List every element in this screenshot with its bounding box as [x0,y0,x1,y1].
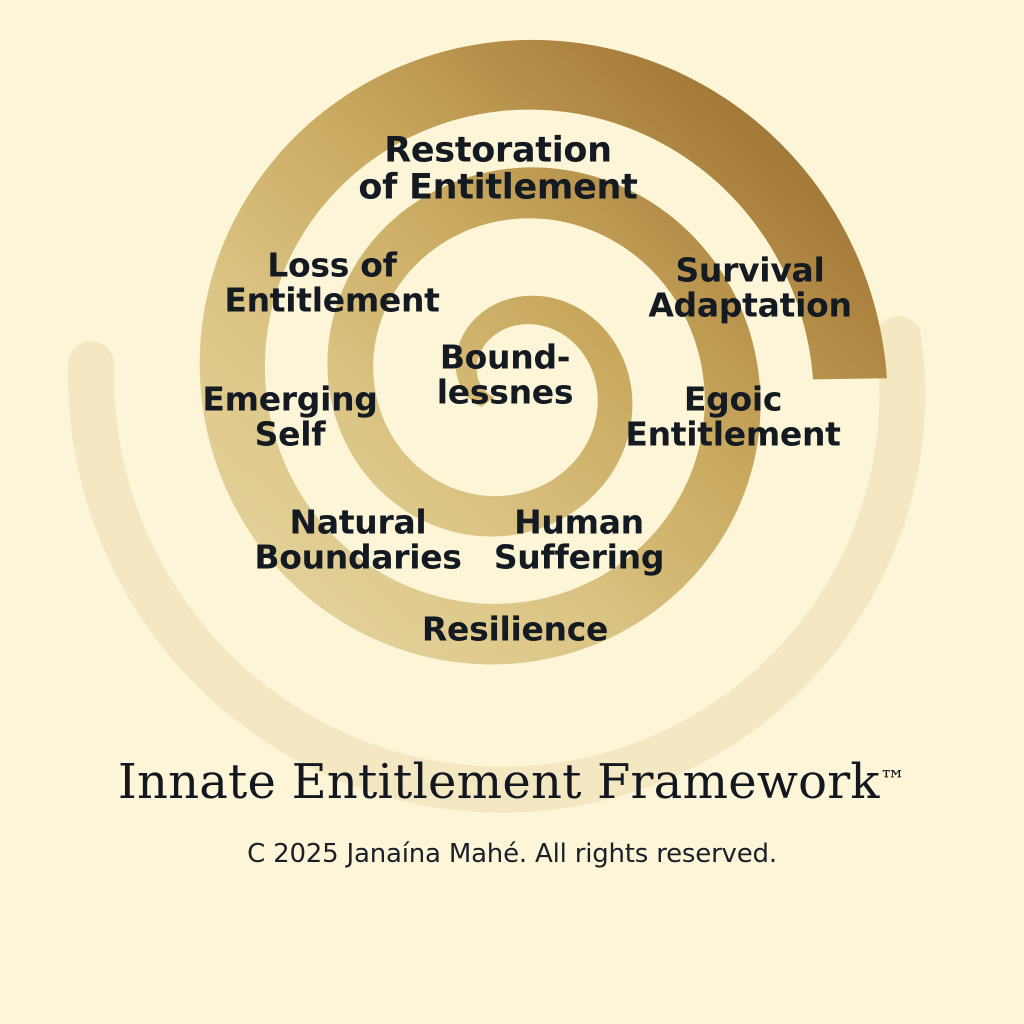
label-survival-adaptation: Survival Adaptation [648,253,851,324]
framework-graphic: Restoration of Entitlement Loss of Entit… [0,0,1024,1024]
footer: Innate Entitlement Framework™ C 2025 Jan… [0,756,1024,869]
label-restoration-of-entitlement: Restoration of Entitlement [358,133,637,208]
framework-title-text: Innate Entitlement Framework [118,754,880,810]
label-egoic-entitlement: Egoic Entitlement [625,382,840,453]
label-human-suffering: Human Suffering [494,505,664,576]
framework-title: Innate Entitlement Framework™ [0,756,1024,809]
label-emerging-self: Emerging Self [202,382,377,453]
label-resilience: Resilience [422,611,608,646]
label-boundlessness: Bound- lessnes [437,340,573,411]
label-natural-boundaries: Natural Boundaries [254,505,461,576]
copyright-notice: C 2025 Janaína Mahé. All rights reserved… [0,839,1024,869]
trademark-symbol: ™ [880,766,907,796]
label-loss-of-entitlement: Loss of Entitlement [224,248,439,319]
